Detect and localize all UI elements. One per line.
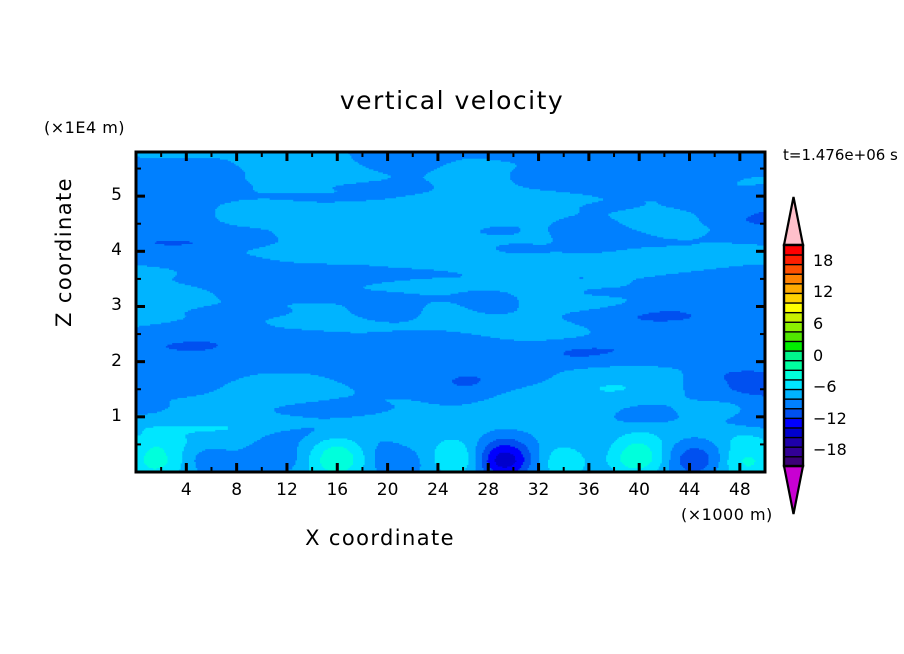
x-tick-label: 40 bbox=[614, 480, 664, 500]
x-tick-label: 12 bbox=[262, 480, 312, 500]
x-tick-label: 36 bbox=[564, 480, 614, 500]
x-tick-label: 28 bbox=[463, 480, 513, 500]
x-tick-label: 24 bbox=[413, 480, 463, 500]
y-tick-label: 4 bbox=[86, 240, 122, 260]
colorbar-tick-label: 12 bbox=[813, 282, 833, 301]
figure-canvas: vertical velocity (×1E4 m) (×1000 m) X c… bbox=[0, 0, 904, 654]
y-tick-label: 3 bbox=[86, 295, 122, 315]
y-tick-label: 1 bbox=[86, 406, 122, 426]
colorbar-tick-label: −18 bbox=[813, 440, 847, 459]
y-tick-label: 2 bbox=[86, 351, 122, 371]
x-tick-label: 16 bbox=[312, 480, 362, 500]
x-tick-label: 32 bbox=[514, 480, 564, 500]
colorbar-tick-label: 18 bbox=[813, 251, 833, 270]
colorbar-tick-label: −6 bbox=[813, 377, 837, 396]
x-tick-label: 44 bbox=[665, 480, 715, 500]
colorbar-tick-label: 6 bbox=[813, 314, 823, 333]
contour-plot bbox=[0, 0, 904, 654]
x-tick-label: 20 bbox=[363, 480, 413, 500]
x-tick-label: 8 bbox=[212, 480, 262, 500]
colorbar-tick-label: 0 bbox=[813, 346, 823, 365]
x-tick-label: 4 bbox=[161, 480, 211, 500]
colorbar-tick-label: −12 bbox=[813, 409, 847, 428]
y-tick-label: 5 bbox=[86, 185, 122, 205]
x-tick-label: 48 bbox=[715, 480, 765, 500]
